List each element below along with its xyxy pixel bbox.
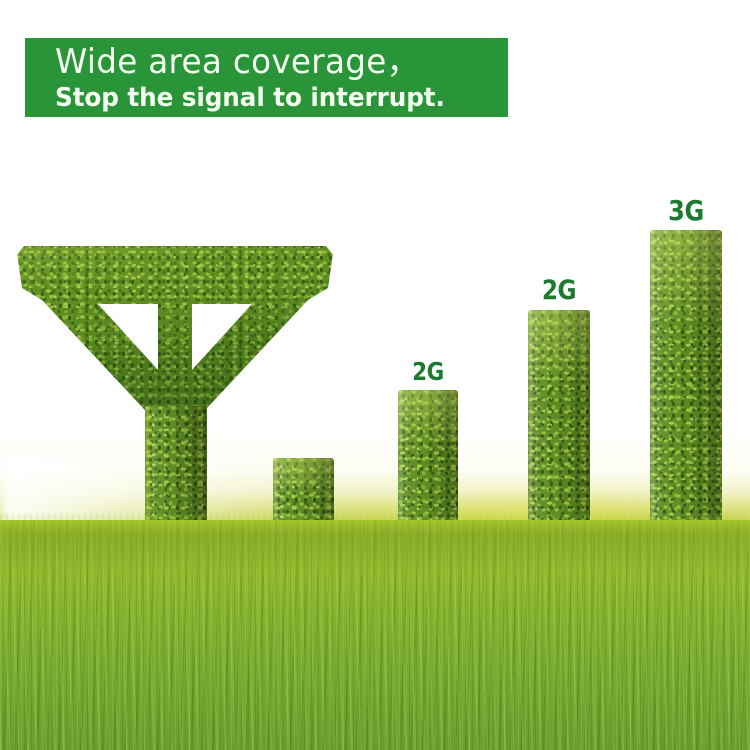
headline-banner: Wide area coverage， Stop the signal to i… [25, 38, 508, 117]
bar-4-label: 3G [655, 194, 717, 227]
antenna-canopy-shape [10, 228, 340, 428]
subheadline-text: Stop the signal to interrupt. [55, 82, 485, 114]
grass-field [0, 520, 750, 750]
poster-scene: 2G 2G 3G Wide area coverage， Stop the si… [0, 0, 750, 750]
grass-tip-layer [0, 514, 750, 574]
bar-2-label: 2G [402, 357, 454, 386]
bar-3-label: 2G [532, 275, 585, 306]
headline-text: Wide area coverage， [55, 42, 490, 82]
